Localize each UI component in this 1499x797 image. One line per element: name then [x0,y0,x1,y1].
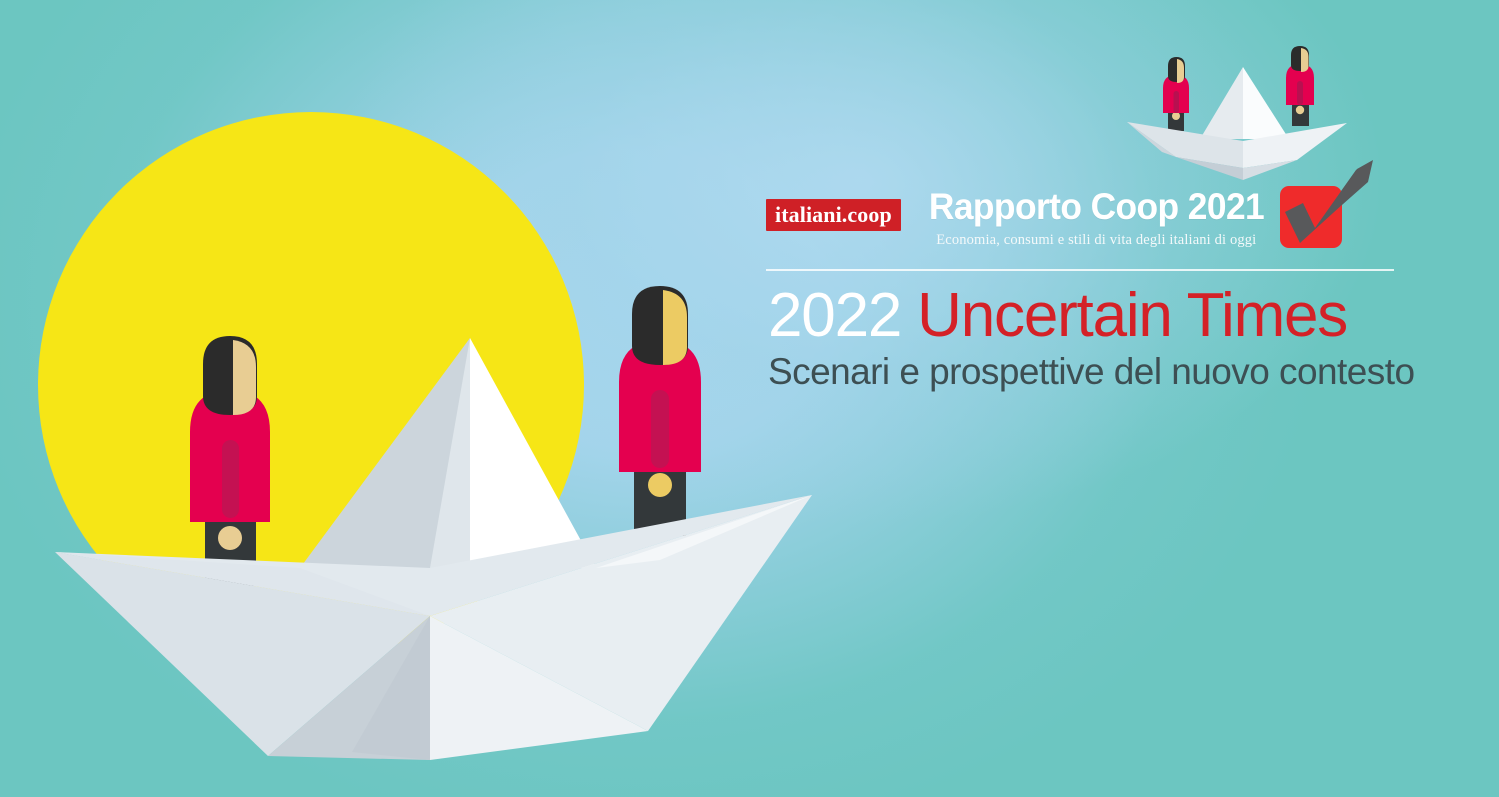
sun-icon [38,112,584,658]
page-subtitle: Scenari e prospettive del nuovo contesto [768,352,1414,393]
headline-year: 2022 [768,281,901,350]
page-title: 2022 Uncertain Times [768,283,1347,349]
logo-row: italiani.coop Rapporto Coop 2021 Economi… [766,186,1406,264]
headline-accent: Uncertain Times [917,281,1347,350]
divider-rule [766,269,1394,271]
report-title-block: Rapporto Coop 2021 Economia, consumi e s… [921,188,1272,249]
report-header: italiani.coop Rapporto Coop 2021 Economi… [766,186,1406,264]
poster-canvas: italiani.coop Rapporto Coop 2021 Economi… [0,0,1499,797]
report-tagline: Economia, consumi e stili di vita degli … [936,233,1256,249]
italiani-coop-badge[interactable]: italiani.coop [766,199,901,231]
report-title: Rapporto Coop 2021 [929,188,1264,226]
